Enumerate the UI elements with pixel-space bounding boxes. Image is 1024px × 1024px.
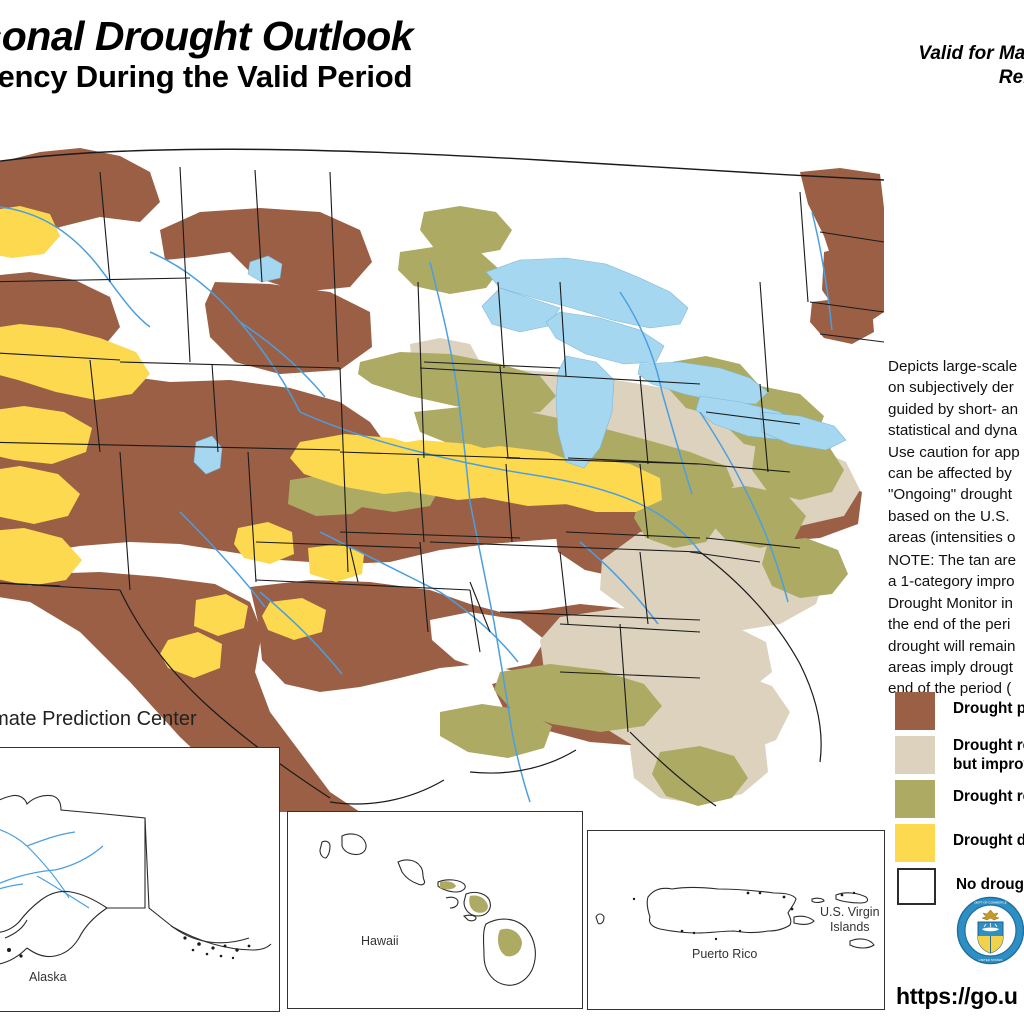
conus-map-svg[interactable] [0,112,884,812]
inset-label-usvi: U.S. Virgin Islands [820,905,880,935]
legend-label-drought-remains-improves: Drought re but improv [953,736,1024,774]
validity-block: Valid for March 19 - Jun Released Marc [712,42,1024,90]
legend-label-drought-persists: Drought p [953,692,1024,719]
department-of-commerce-seal-icon: DEPT OF COMMERCE UNITED STATES [956,896,1024,965]
legend-swatch-drought-removal-likely [895,780,935,818]
conus-map[interactable] [0,112,884,812]
svg-text:DEPT OF COMMERCE: DEPT OF COMMERCE [974,901,1007,905]
inset-map-alaska[interactable]: Alaska [0,747,280,1012]
inset-map-puerto-rico[interactable]: Puerto Rico U.S. Virgin Islands [587,830,885,1010]
inset-label-alaska: Alaska [29,970,67,984]
svg-text:UNITED STATES: UNITED STATES [979,958,1003,962]
legend-item-drought-persists: Drought p [895,692,1024,730]
inset-map-hawaii[interactable]: Hawaii [287,811,583,1009]
legend-swatch-drought-remains-improves [895,736,935,774]
released-date-text: Released Marc [712,66,1024,90]
legend-label-drought-removal-likely: Drought re [953,780,1024,807]
legend-item-drought-removal-likely: Drought re [895,780,1024,818]
legend-swatch-drought-development-likely [895,824,935,862]
legend-label-drought-development-likely: Drought d [953,824,1024,851]
legend-swatch-drought-persists [895,692,935,730]
legend-item-drought-development-likely: Drought d [895,824,1024,862]
inset-label-puerto-rico: Puerto Rico [692,947,757,961]
valid-period-text: Valid for March 19 - Jun [712,42,1024,66]
cpc-credit-text: NCEP Climate Prediction Center [0,708,197,731]
legend-label-no-drought: No drough [956,868,1024,895]
info-panel: Depicts large-scale on subjectively der … [886,112,1024,1024]
legend-item-drought-remains-improves: Drought re but improv [895,736,1024,774]
legend: Drought p Drought re but improv Drought … [895,692,1024,911]
page-title-block: Seasonal Drought Outlook t Tendency Duri… [0,14,608,94]
legend-swatch-no-drought [897,868,936,905]
page-title: Seasonal Drought Outlook [0,14,608,58]
page-subtitle: t Tendency During the Valid Period [0,60,608,94]
url-text[interactable]: https://go.u [896,983,1018,1010]
description-text: Depicts large-scale on subjectively der … [888,356,1024,549]
inset-label-hawaii: Hawaii [361,934,399,948]
drought-outlook-page: Seasonal Drought Outlook t Tendency Duri… [0,0,1024,1024]
hawaii-svg [288,812,582,1008]
note-text: NOTE: The tan are a 1-category impro Dro… [888,550,1024,700]
